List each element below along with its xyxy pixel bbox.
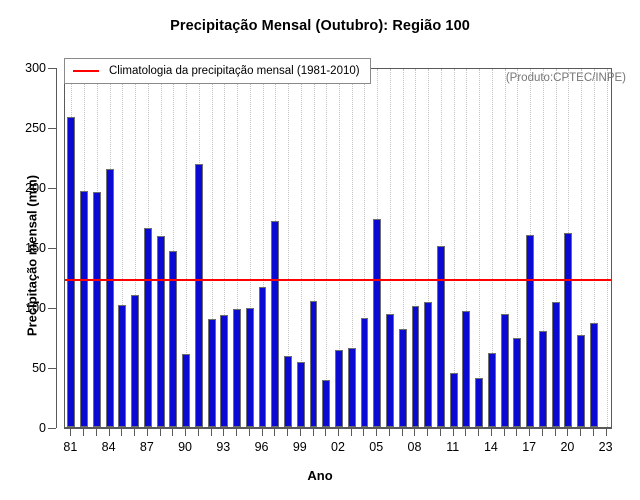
x-tick-mark: [567, 429, 568, 436]
x-tick-mark: [580, 429, 581, 436]
x-tick-label: 99: [293, 440, 307, 454]
x-tick-mark: [134, 429, 135, 436]
x-tick-label: 17: [522, 440, 536, 454]
climatology-layer: [65, 69, 611, 427]
x-tick-mark: [529, 429, 530, 436]
x-tick-mark: [376, 429, 377, 436]
y-tick-label: 300: [25, 61, 46, 75]
x-tick-mark: [516, 429, 517, 436]
x-tick-mark: [453, 429, 454, 436]
x-tick-mark: [262, 429, 263, 436]
y-tick-mark: [48, 188, 56, 189]
y-tick-label: 150: [25, 241, 46, 255]
x-tick-mark: [363, 429, 364, 436]
x-tick-label: 93: [216, 440, 230, 454]
y-tick-mark: [48, 128, 56, 129]
climatology-reference-line: [65, 279, 611, 281]
x-tick-mark: [325, 429, 326, 436]
x-tick-label: 81: [63, 440, 77, 454]
x-tick-mark: [274, 429, 275, 436]
x-tick-mark: [211, 429, 212, 436]
x-tick-mark: [236, 429, 237, 436]
y-axis-spine: [56, 68, 57, 428]
x-tick-mark: [313, 429, 314, 436]
x-tick-mark: [351, 429, 352, 436]
x-tick-mark: [491, 429, 492, 436]
x-tick-label: 05: [369, 440, 383, 454]
x-tick-mark: [606, 429, 607, 436]
x-tick-mark: [198, 429, 199, 436]
y-axis: 050100150200250300: [0, 0, 64, 500]
y-tick-label: 250: [25, 121, 46, 135]
x-tick-label: 08: [408, 440, 422, 454]
x-tick-mark: [414, 429, 415, 436]
x-tick-mark: [440, 429, 441, 436]
x-tick-mark: [160, 429, 161, 436]
x-tick-label: 84: [102, 440, 116, 454]
precipitation-bar-chart: Precipitação Mensal (Outubro): Região 10…: [0, 0, 640, 500]
legend: Climatologia da precipitação mensal (198…: [64, 58, 371, 84]
x-tick-mark: [300, 429, 301, 436]
x-tick-mark: [402, 429, 403, 436]
y-tick-label: 50: [32, 361, 46, 375]
x-tick-mark: [223, 429, 224, 436]
x-tick-label: 14: [484, 440, 498, 454]
x-tick-label: 87: [140, 440, 154, 454]
plot-area: [64, 68, 612, 428]
x-tick-label: 23: [599, 440, 613, 454]
x-tick-mark: [249, 429, 250, 436]
x-axis: 818487909396990205081114172023: [64, 428, 612, 468]
chart-title: Precipitação Mensal (Outubro): Região 10…: [0, 18, 640, 34]
y-tick-label: 0: [39, 421, 46, 435]
legend-line-swatch: [73, 70, 99, 72]
x-tick-mark: [83, 429, 84, 436]
y-tick-mark: [48, 368, 56, 369]
x-tick-label: 02: [331, 440, 345, 454]
x-tick-label: 20: [560, 440, 574, 454]
x-tick-mark: [109, 429, 110, 436]
legend-item-label: Climatologia da precipitação mensal (198…: [109, 65, 360, 77]
x-tick-mark: [172, 429, 173, 436]
x-tick-mark: [389, 429, 390, 436]
x-tick-mark: [185, 429, 186, 436]
product-attribution: (Produto:CPTEC/INPE): [506, 72, 626, 84]
x-tick-mark: [555, 429, 556, 436]
x-tick-mark: [147, 429, 148, 436]
x-tick-mark: [338, 429, 339, 436]
x-tick-mark: [504, 429, 505, 436]
y-tick-mark: [48, 308, 56, 309]
x-tick-mark: [287, 429, 288, 436]
x-tick-mark: [478, 429, 479, 436]
y-tick-mark: [48, 68, 56, 69]
x-tick-mark: [70, 429, 71, 436]
x-tick-label: 96: [255, 440, 269, 454]
y-tick-mark: [48, 428, 56, 429]
x-tick-mark: [121, 429, 122, 436]
x-tick-label: 90: [178, 440, 192, 454]
x-tick-mark: [465, 429, 466, 436]
y-tick-label: 200: [25, 181, 46, 195]
y-tick-label: 100: [25, 301, 46, 315]
y-tick-mark: [48, 248, 56, 249]
x-axis-title: Ano: [0, 468, 640, 483]
x-tick-mark: [427, 429, 428, 436]
x-tick-mark: [593, 429, 594, 436]
x-tick-label: 11: [446, 440, 459, 454]
x-tick-mark: [96, 429, 97, 436]
x-tick-mark: [542, 429, 543, 436]
